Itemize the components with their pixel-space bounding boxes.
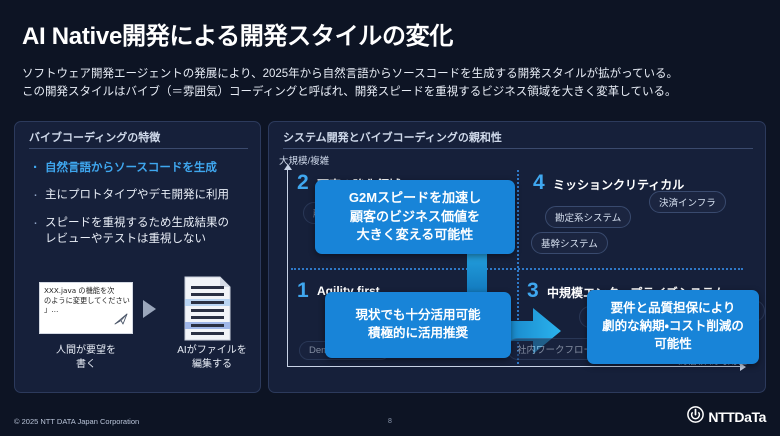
paper-plane-icon bbox=[114, 312, 128, 330]
flow-caption-human: 人間が要望を 書く bbox=[39, 344, 133, 371]
lede-line-2: この開発スタイルはバイブ（＝雰囲気）コーディングと呼ばれ、開発スピードを重視する… bbox=[22, 84, 762, 102]
lede-paragraph: ソフトウェア開発エージェントの発展により、2025年から自然言語からソースコード… bbox=[22, 66, 762, 102]
pill-item: 勘定系システム bbox=[545, 206, 631, 228]
right-panel: システム開発とバイブコーディングの親和性 大規模/複雑 高信頼/高可用性 2 顧… bbox=[268, 121, 766, 393]
prompt-text: XXX.java の機能を次 のように変更してください 」… bbox=[44, 286, 132, 315]
quadrant-1-number: 1 bbox=[297, 280, 309, 301]
left-panel-title: バイブコーディングの特徴 bbox=[29, 129, 160, 145]
right-triangle-icon bbox=[143, 300, 156, 318]
prompt-card: XXX.java の機能を次 のように変更してください 」… bbox=[39, 282, 133, 334]
slide-root: AI Native開発による開発スタイルの変化 ソフトウェア開発エージェントの発… bbox=[0, 0, 780, 436]
left-panel-divider bbox=[29, 148, 248, 149]
pill-item: 基幹システム bbox=[531, 232, 608, 254]
brand-logo-text: NTTDaTa bbox=[708, 409, 766, 425]
y-axis-arrowhead-icon bbox=[284, 164, 292, 170]
document-file-icon bbox=[178, 276, 236, 347]
list-item: スピードを重視するため生成結果の レビューやテストは重視しない bbox=[31, 215, 249, 248]
human-ai-flow-graphic: XXX.java の機能を次 のように変更してください 」… bbox=[15, 282, 262, 392]
pill-item: 決済インフラ bbox=[649, 191, 726, 213]
page-title: AI Native開発による開発スタイルの変化 bbox=[22, 16, 453, 51]
brand-logo: NTTDaTa bbox=[687, 406, 766, 428]
quadrant-2-number: 2 bbox=[297, 172, 309, 193]
page-number: 8 bbox=[0, 418, 780, 425]
quadrant-3-number: 3 bbox=[527, 280, 539, 301]
flow-caption-ai: AIがファイルを 編集する bbox=[165, 344, 259, 371]
feature-bullet-list: 自然言語からソースコードを生成 主にプロトタイプやデモ開発に利用 スピードを重視… bbox=[31, 160, 249, 258]
lede-line-1: ソフトウェア開発エージェントの発展により、2025年から自然言語からソースコード… bbox=[22, 66, 762, 84]
callout-quadrant-3: 要件と品質担保により 劇的な納期・コスト削減の 可能性 bbox=[587, 290, 759, 364]
left-panel: バイブコーディングの特徴 自然言語からソースコードを生成 主にプロトタイプやデモ… bbox=[14, 121, 261, 393]
callout-quadrant-2: G2Mスピードを加速し 顧客のビジネス価値を 大きく変える可能性 bbox=[315, 180, 515, 254]
list-item: 主にプロトタイプやデモ開発に利用 bbox=[31, 187, 249, 203]
quadrant-chart: 大規模/複雑 高信頼/高可用性 2 顧客の強化領域 顧客接点系システム 4 ミッ… bbox=[269, 122, 767, 394]
callout-quadrant-1: 現状でも十分活用可能 積極的に活用推奨 bbox=[325, 292, 511, 358]
x-axis-line bbox=[287, 366, 742, 367]
ntt-data-mark-icon bbox=[687, 406, 704, 428]
list-item: 自然言語からソースコードを生成 bbox=[31, 160, 249, 176]
quadrant-4-number: 4 bbox=[533, 172, 545, 193]
y-axis-line bbox=[287, 168, 288, 366]
